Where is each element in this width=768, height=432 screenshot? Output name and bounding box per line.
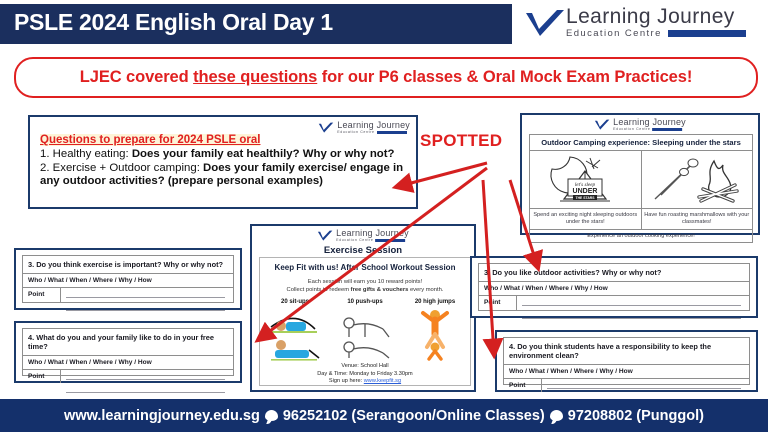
logo-subtitle: Education Centre (337, 130, 374, 134)
logo-subtitle: Education Centre (566, 28, 662, 39)
footer-website[interactable]: www.learningjourney.edu.sg (64, 408, 260, 424)
question-table: 4. What do you and your family like to d… (22, 328, 234, 376)
panel-exercise-session: Learning Journey Education Centre Exerci… (250, 224, 476, 392)
exercise-line2b: free gifts & vouchers (351, 287, 409, 293)
logo-rule (653, 128, 683, 131)
wh-prompts: Who / What / When / Where / Why / How (23, 356, 233, 370)
tent-illustration-cell: let's sleep UNDER THE STARS (530, 151, 641, 208)
wh-prompts: Who / What / When / Where / Why / How (23, 274, 233, 288)
logo-name: Learning Journey (337, 121, 410, 130)
answer-lines[interactable] (61, 370, 233, 383)
panel-q3-outdoor-activities: 3. Do you like outdoor activities? Why o… (470, 256, 758, 318)
wh-prompts: Who / What / When / Where / Why / How (504, 365, 749, 379)
footer: www.learningjourney.edu.sg 96252102 (Ser… (0, 399, 768, 432)
checkmark-icon (524, 9, 566, 39)
chat-bubble-icon (550, 410, 563, 421)
panel-outdoor-camping: Learning Journey Education Centre Outdoo… (520, 113, 760, 235)
chat-bubble-icon (265, 410, 278, 421)
question-text: 3. Do you think exercise is important? W… (23, 256, 233, 274)
panel-q3-exercise-important: 3. Do you think exercise is important? W… (14, 248, 242, 310)
footer-text: www.learningjourney.edu.sg 96252102 (Ser… (64, 408, 704, 424)
questions-heading: Questions to prepare for 2024 PSLE oral (40, 134, 260, 146)
exercise-columns: 20 sit-ups (260, 299, 470, 361)
panel-q4-free-time: 4. What do you and your family like to d… (14, 321, 242, 383)
campfire-marshmallow-icon (651, 155, 743, 205)
panel-q4-environment-clean: 4. Do you think students have a responsi… (495, 330, 758, 392)
exercise-column: 10 push-ups (330, 299, 400, 361)
banner-text: LJEC covered these questions for our P6 … (80, 68, 692, 87)
point-label: Point (23, 288, 61, 302)
highlight-banner: LJEC covered these questions for our P6 … (14, 57, 758, 98)
checkmark-icon (317, 230, 333, 242)
tent-under-the-stars-icon: let's sleep UNDER THE STARS (542, 155, 628, 205)
point-label: Point (23, 370, 61, 383)
exercise-line2a: Collect points to redeem (287, 287, 351, 293)
camping-title: Outdoor Camping experience: Sleeping und… (530, 135, 752, 151)
exercise-subtitle: Keep Fit with us! After School Workout S… (260, 263, 470, 272)
exercise-line2c: every month. (408, 287, 443, 293)
exercise-column: 20 sit-ups (260, 299, 330, 361)
header: PSLE 2024 English Oral Day 1 Learning Jo… (0, 0, 768, 48)
exercise-content-box: Keep Fit with us! After School Workout S… (259, 257, 471, 386)
question-1-lead: 1. Healthy eating: (40, 148, 132, 160)
logo-rule (376, 239, 406, 242)
camping-caption-left: Spend an exciting night sleeping outdoor… (530, 209, 641, 229)
banner-part1: LJEC covered (80, 68, 193, 86)
logo-rule (668, 30, 746, 37)
question-table: 4. Do you think students have a responsi… (503, 337, 750, 385)
svg-text:THE STARS: THE STARS (576, 196, 596, 200)
situps-illustration (260, 305, 330, 361)
mini-logo: Learning Journey Education Centre (317, 229, 409, 242)
footer-phone-1: 96252102 (Serangoon/Online Classes) (283, 408, 545, 424)
exercise-line1: Each session will earn you 10 reward poi… (308, 279, 422, 285)
logo-name: Learning Journey (566, 6, 746, 28)
brand-logo: Learning Journey Education Centre (516, 4, 768, 46)
exercise-reward-line: Each session will earn you 10 reward poi… (260, 278, 470, 294)
exercise-column: 20 high jumps (400, 299, 470, 361)
logo-name: Learning Journey (613, 118, 686, 127)
camping-table: Outdoor Camping experience: Sleeping und… (529, 134, 753, 243)
camping-caption-right: Have fun roasting marshmallows with your… (641, 209, 753, 229)
spotted-label: SPOTTED (420, 131, 502, 151)
sit-up-icon (265, 307, 325, 361)
answer-row: Point (23, 288, 233, 302)
questions-body: 1. Healthy eating: Does your family eat … (40, 148, 412, 189)
svg-text:UNDER: UNDER (573, 188, 598, 195)
exercise-signup-lead: Sign up here: (329, 378, 364, 384)
push-up-icon (335, 307, 395, 361)
slide-canvas: PSLE 2024 English Oral Day 1 Learning Jo… (0, 0, 768, 432)
mini-logo: Learning Journey Education Centre (594, 118, 686, 131)
question-text: 3. Do you like outdoor activities? Why o… (479, 264, 749, 282)
answer-row: Point (23, 370, 233, 383)
logo-name: Learning Journey (336, 229, 409, 238)
high-jump-icon (405, 307, 465, 361)
page-title: PSLE 2024 English Oral Day 1 (14, 9, 333, 36)
question-text: 4. Do you think students have a responsi… (504, 338, 749, 365)
question-table: 3. Do you like outdoor activities? Why o… (478, 263, 750, 311)
wh-prompts: Who / What / When / Where / Why / How (479, 282, 749, 296)
question-2-lead: 2. Exercise + Outdoor camping: (40, 162, 203, 174)
mini-logo: Learning Journey Education Centre (318, 121, 410, 134)
question-table: 3. Do you think exercise is important? W… (22, 255, 234, 303)
panel-questions-to-prepare: Learning Journey Education Centre Questi… (28, 115, 418, 209)
highjumps-illustration (400, 305, 470, 361)
pushups-illustration (330, 305, 400, 361)
question-text: 4. What do you and your family like to d… (23, 329, 233, 356)
logo-rule (377, 131, 407, 134)
exercise-signup-link[interactable]: www.keepfit.sg (364, 378, 401, 384)
logo-subtitle: Education Centre (613, 127, 650, 131)
answer-row: Point (504, 379, 749, 392)
banner-underlined: these questions (193, 68, 317, 86)
camping-art-row: let's sleep UNDER THE STARS (530, 151, 752, 209)
camping-footer-caption: Experience an outdoor cooking experience… (530, 230, 752, 242)
point-label: Point (479, 296, 517, 310)
checkmark-icon (594, 119, 610, 131)
exercise-venue: Venue: School Hall (341, 363, 388, 369)
answer-lines[interactable] (542, 379, 749, 392)
campfire-illustration-cell (641, 151, 753, 208)
answer-lines[interactable] (517, 296, 749, 310)
question-1-bold: Does your family eat healthily? Why or w… (132, 148, 395, 160)
answer-row: Point (479, 296, 749, 310)
exercise-footer: Venue: School Hall Day & Time: Monday to… (260, 363, 470, 386)
logo-subtitle: Education Centre (336, 238, 373, 242)
camping-caption-row: Spend an exciting night sleeping outdoor… (530, 209, 752, 230)
footer-phone-2: 97208802 (Punggol) (568, 408, 704, 424)
exercise-daytime: Day & Time: Monday to Friday 3.30pm (317, 371, 412, 377)
point-label: Point (504, 379, 542, 392)
exercise-title: Exercise Session (252, 245, 474, 256)
banner-part2: for our P6 classes & Oral Mock Exam Prac… (317, 68, 692, 86)
answer-lines[interactable] (61, 288, 233, 302)
checkmark-icon (318, 122, 334, 134)
